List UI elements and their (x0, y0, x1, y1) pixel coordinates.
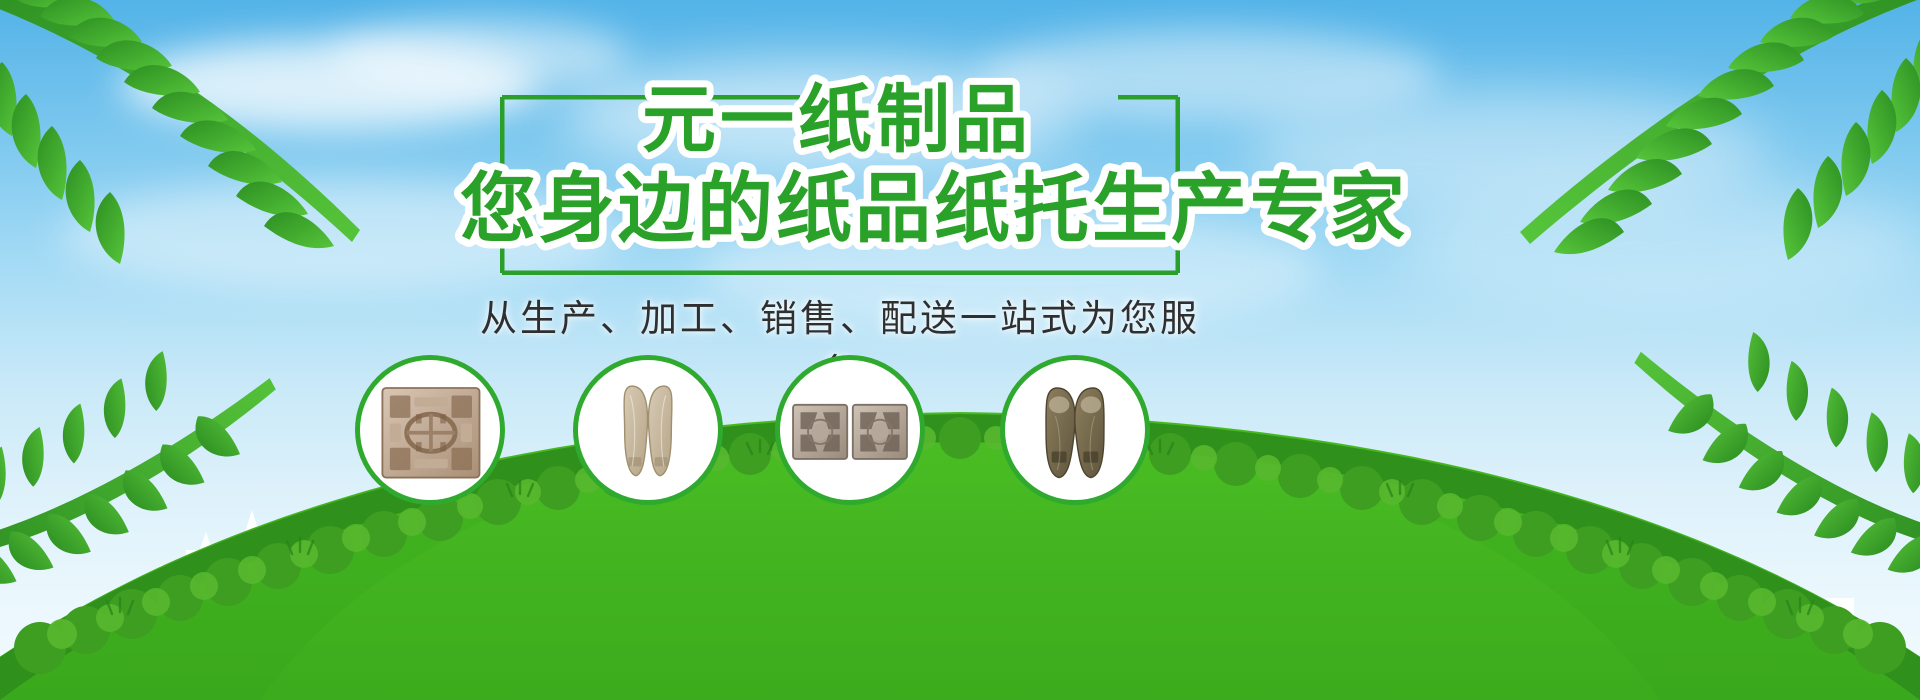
headline-line2: 您身边的纸品纸托生产专家 (460, 167, 1408, 252)
palm-frond-icon (0, 0, 390, 270)
headline-line1: 元一纸制品 (642, 78, 1032, 161)
double-pulp-mould-image (780, 360, 920, 500)
promo-banner: 元一纸制品 您身边的纸品纸托生产专家 从生产、加工、销售、配送一站式为您服务 (0, 0, 1920, 700)
headline-text: 元一纸制品 您身边的纸品纸托生产专家 (380, 60, 1560, 300)
palm-frond-icon (0, 293, 293, 638)
product-circle-double-paper-pulp-moulds[interactable] (775, 355, 925, 505)
shoe-last-pulp-pair-image (578, 360, 718, 500)
product-circle-square-paper-pulp-tray[interactable] (355, 355, 505, 505)
palm-frond-icon (1581, 275, 1920, 625)
product-circle-dark-paper-pulp-shoe-forms[interactable] (1000, 355, 1150, 505)
dark-pulp-shoe-forms-image (1005, 360, 1145, 500)
product-circle-shoe-last-paper-pulp-pair[interactable] (573, 355, 723, 505)
square-paper-pulp-tray-image (360, 360, 500, 500)
